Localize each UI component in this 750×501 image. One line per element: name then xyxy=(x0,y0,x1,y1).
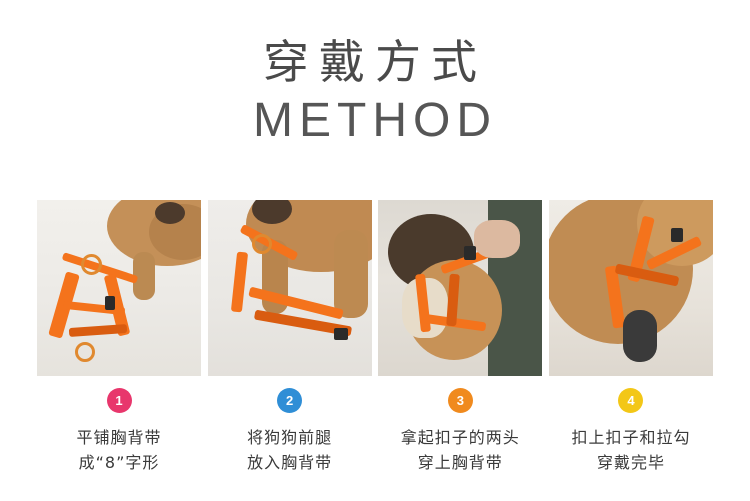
step-photo-row xyxy=(37,200,713,376)
dog-leg-2b xyxy=(334,230,368,318)
step-caption-1: 平铺胸背带 成“8”字形 xyxy=(37,425,201,475)
harness-ring-1 xyxy=(81,254,102,275)
harness-buckle-1 xyxy=(105,296,115,310)
step-caption-2: 将狗狗前腿 放入胸背带 xyxy=(208,425,372,475)
step-caption-row: 1 平铺胸背带 成“8”字形 2 将狗狗前腿 放入胸背带 3 拿起扣子的两头 穿… xyxy=(37,388,713,475)
harness-buckle-4 xyxy=(623,310,657,362)
step-item-4: 4 扣上扣子和拉勾 穿戴完毕 xyxy=(549,388,713,475)
step-item-1: 1 平铺胸背带 成“8”字形 xyxy=(37,388,201,475)
dog-shape-1c xyxy=(155,202,185,224)
step-photo-1 xyxy=(37,200,201,376)
step-caption-3: 拿起扣子的两头 穿上胸背带 xyxy=(378,425,542,475)
page-title-chinese: 穿戴方式 xyxy=(0,34,750,90)
page-heading: 穿戴方式 METHOD xyxy=(0,0,750,150)
instruction-page: 穿戴方式 METHOD xyxy=(0,0,750,501)
step-photo-2 xyxy=(208,200,372,376)
harness-ring-2 xyxy=(252,234,272,254)
step-photo-4 xyxy=(549,200,713,376)
step-photo-3 xyxy=(378,200,542,376)
step-caption-4: 扣上扣子和拉勾 穿戴完毕 xyxy=(549,425,713,475)
hand-3 xyxy=(474,220,520,258)
step-badge-1: 1 xyxy=(107,388,132,413)
step-item-3: 3 拿起扣子的两头 穿上胸背带 xyxy=(378,388,542,475)
harness-buckle-3 xyxy=(464,246,476,260)
step-badge-3: 3 xyxy=(448,388,473,413)
step-item-2: 2 将狗狗前腿 放入胸背带 xyxy=(208,388,372,475)
harness-buckle-2 xyxy=(334,328,348,340)
step-badge-2: 2 xyxy=(277,388,302,413)
page-title-english: METHOD xyxy=(0,92,750,150)
harness-clip-4 xyxy=(671,228,683,242)
step-badge-4: 4 xyxy=(618,388,643,413)
harness-ring-1b xyxy=(75,342,95,362)
